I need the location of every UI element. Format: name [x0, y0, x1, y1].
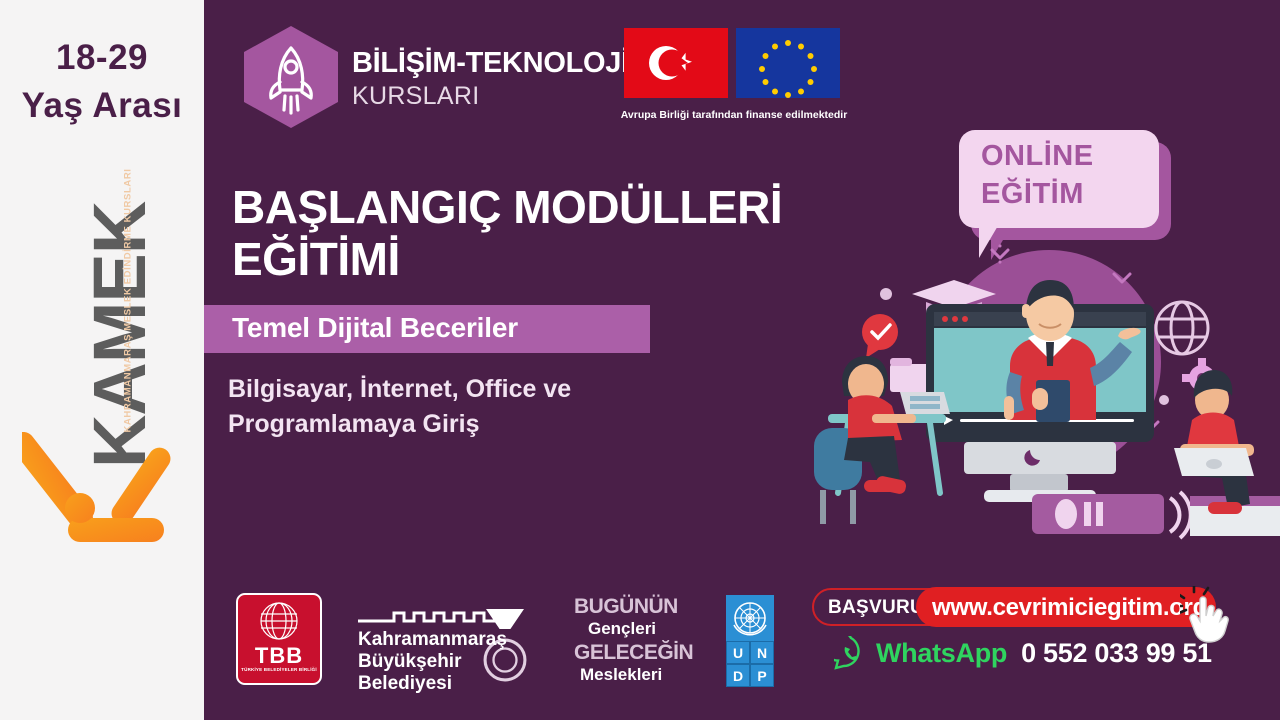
- contact-block: BAŞVURU www.cevrimiciegitim.org WhatsApp…: [812, 588, 1242, 688]
- whatsapp-number: 0 552 033 99 51: [1021, 638, 1212, 669]
- kahramanmaras-municipality-logo: Kahramanmaraş Büyükşehir Belediyesi: [358, 599, 538, 679]
- undp-letter-n: N: [750, 641, 774, 664]
- undp-letter-d: D: [726, 664, 750, 687]
- rocket-icon: [240, 24, 342, 130]
- bugunun-gencleri-logo: BUGÜNÜN Gençleri GELECEĞİN Meslekleri: [574, 595, 734, 687]
- bgm-line-4: Meslekleri: [580, 665, 662, 685]
- subtitle-line-1: Bilgisayar, İnternet, Office ve: [228, 372, 748, 407]
- bubble-line-2: EĞİTİM: [981, 178, 1084, 211]
- municipality-line-1: Kahramanmaraş: [358, 629, 507, 651]
- age-range-line1: 18-29: [0, 38, 204, 78]
- tbb-globe-icon: [238, 597, 320, 645]
- online-learning-illustration: [814, 232, 1280, 572]
- website-url[interactable]: www.cevrimiciegitim.org: [932, 594, 1207, 622]
- municipality-line-2: Büyükşehir Belediyesi: [358, 651, 538, 695]
- highlight-text: Temel Dijital Beceriler: [232, 312, 518, 344]
- flag-caption: Avrupa Birliği tarafından finanse edilme…: [610, 108, 858, 122]
- kamek-logo-subtitle: KAHRAMANMARAŞ MESLEK EDİNDİRME KURSLARI: [123, 161, 134, 441]
- promo-banner: 18-29 Yaş Arası KAMEK KAHRAMANMARAŞ MESL…: [0, 0, 1280, 720]
- bgm-line-1: BUGÜNÜN: [574, 595, 678, 619]
- subtitle-block: Bilgisayar, İnternet, Office ve Programl…: [228, 372, 748, 442]
- whatsapp-label: WhatsApp: [876, 638, 1007, 669]
- brand-title: BİLİŞİM-TEKNOLOJİ: [352, 47, 629, 80]
- undp-letters: U N D P: [726, 641, 774, 687]
- tbb-logo: TBB TÜRKİYE BELEDİYELER BİRLİĞİ: [236, 593, 322, 685]
- european-union-flag-icon: [736, 28, 840, 98]
- whatsapp-row[interactable]: WhatsApp 0 552 033 99 51: [834, 636, 1212, 670]
- subtitle-line-2: Programlamaya Giriş: [228, 407, 748, 442]
- kamek-figure-icon: [22, 410, 182, 570]
- bgm-line-3: GELECEĞİN: [574, 641, 693, 665]
- castle-wall-icon: [358, 599, 538, 629]
- undp-letter-u: U: [726, 641, 750, 664]
- apply-label: BAŞVURU: [828, 597, 924, 619]
- brand-subtitle: KURSLARI: [352, 82, 479, 111]
- undp-logo: U N D P: [726, 595, 774, 687]
- undp-letter-p: P: [750, 664, 774, 687]
- bubble-line-1: ONLİNE: [981, 140, 1094, 173]
- age-range-line2: Yaş Arası: [0, 86, 204, 126]
- un-emblem-icon: [726, 595, 774, 641]
- funding-flags: Avrupa Birliği tarafından finanse edilme…: [624, 28, 840, 98]
- purple-panel: BİLİŞİM-TEKNOLOJİ KURSLARI: [204, 0, 1280, 720]
- whatsapp-icon: [834, 636, 868, 670]
- tbb-label: TBB: [238, 643, 320, 669]
- tbb-subtitle: TÜRKİYE BELEDİYELER BİRLİĞİ: [238, 667, 320, 672]
- turkey-flag-icon: [624, 28, 728, 98]
- left-rail: 18-29 Yaş Arası KAMEK KAHRAMANMARAŞ MESL…: [0, 0, 204, 720]
- bgm-line-2: Gençleri: [588, 619, 656, 639]
